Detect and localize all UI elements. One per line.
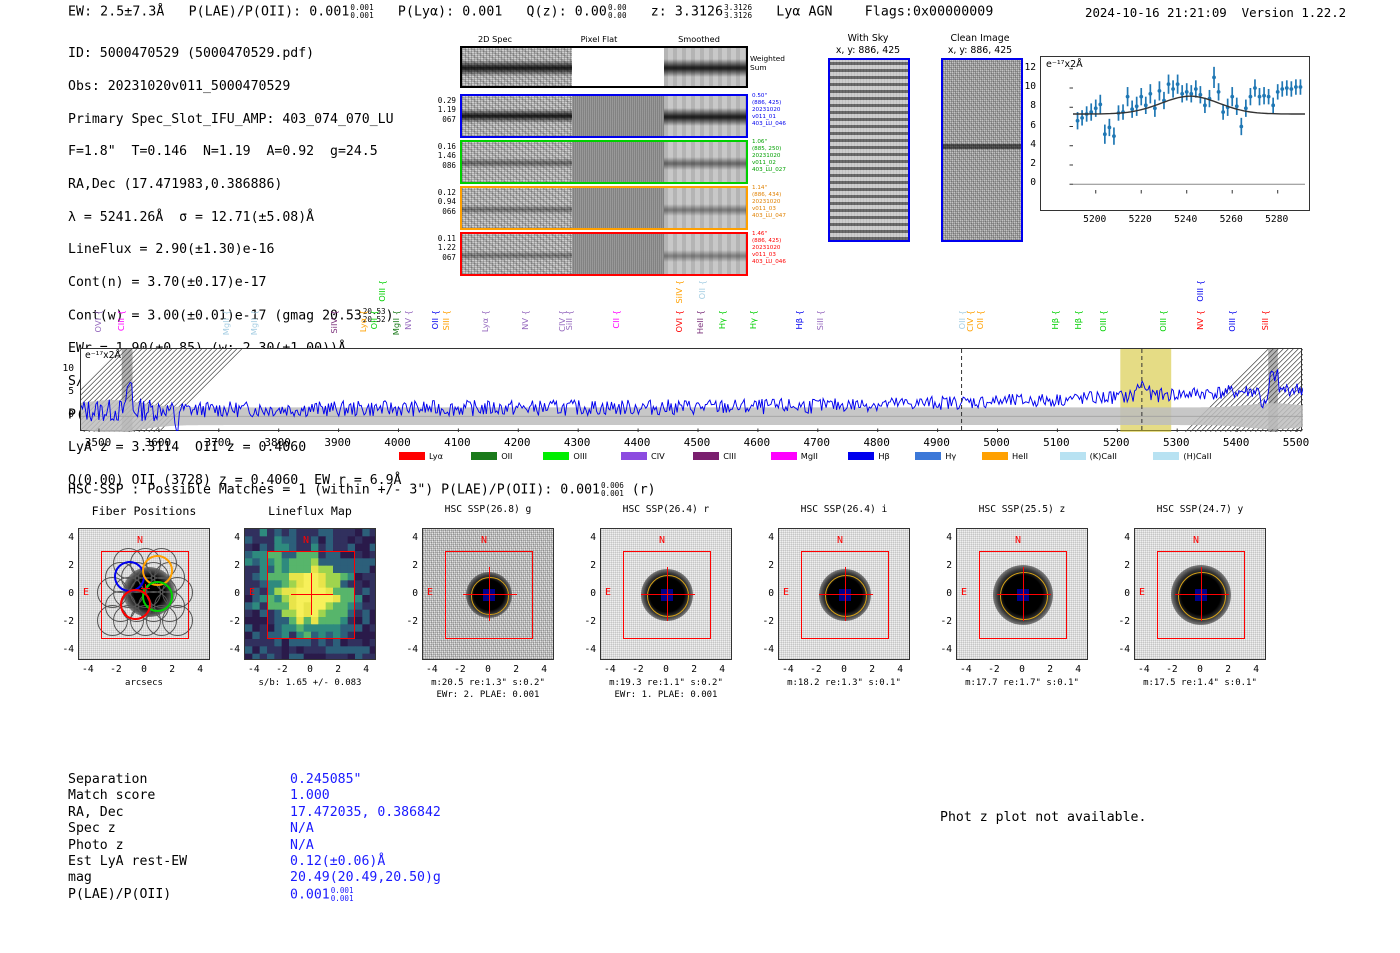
profile-xtick: 5260 [1209,214,1253,225]
panel-xtick: 2 [1214,664,1242,675]
spectrum-xtick: 3900 [312,436,364,449]
table-key-3: Spec z [68,821,116,837]
spectrum-line-label-H: Hβ { [795,310,803,329]
table-value-6: 20.49(20.49,20.50)g [290,870,441,886]
spec2d-row2-left-values: 0.16 1.46 086 [430,142,456,170]
legend-label-KCaII: (K)CaII [1090,451,1117,461]
legend-label-CIII: CIII [723,451,736,461]
panel-xtick: -2 [102,664,130,675]
legend-swatch-OII [471,452,497,460]
spectrum-xtick: 4300 [551,436,603,449]
direction-east-label: E [605,587,611,598]
photz-unavailable-note: Phot z plot not available. [940,810,1146,825]
spectrum-line-label-NV: NV { [1196,310,1204,330]
panel-ytick: -4 [400,644,418,655]
panel-xtick: 0 [652,664,680,675]
spec2d-row4-sep: 1.46" [752,231,786,238]
panel-title-5: HSC SSP(25.5) z [934,504,1110,515]
spectrum-line-label-H: Hγ { [718,310,726,329]
crosshair-v [1023,567,1024,621]
panel-xtick: 0 [830,664,858,675]
spec2d-row2-xy: (885, 250) [752,146,786,153]
spectrum-line-label-SiII: SiII { [1261,310,1269,330]
spectrum-xtick: 4100 [431,436,483,449]
panel-xtick: 0 [130,664,158,675]
panel-ytick: -2 [578,616,596,627]
spectrum-line-label-MgII: MgII { [250,310,258,335]
legend-swatch-H [915,452,941,460]
legend-label-CIV: CIV [651,451,665,461]
panel-ytick: 2 [1112,560,1130,571]
spec2d-row1-val3: 067 [430,115,456,124]
crosshair-v [1201,567,1202,621]
panel-title-6: HSC SSP(24.7) y [1112,504,1288,515]
direction-east-label: E [249,587,255,598]
spectrum-line-label-OII: OII { [698,280,706,299]
panel-ytick: -2 [756,616,774,627]
panel-xtick: -2 [446,664,474,675]
spectrum-line-label-SIII: SIII { [442,310,450,331]
panel-xtick: 4 [708,664,736,675]
spec2d-title-2dspec: 2D Spec [450,34,540,44]
spec2d-row3-amp: 403_LU_047 [752,213,786,220]
legend-label-H: Hγ [945,451,956,461]
panel-ytick: 2 [578,560,596,571]
cutout-with-sky-image[interactable] [828,58,910,242]
spec2d-row2-date: 20231020 [752,153,786,160]
panel-xtick: 4 [186,664,214,675]
panel-xtick: 0 [474,664,502,675]
table-value-3: N/A [290,821,314,837]
red-aperture-box [101,551,189,639]
spectrum-line-label-OII: OII { [370,310,378,329]
spectrum-line-label-OVI: OVI { [94,310,102,332]
panel-xtick: 0 [296,664,324,675]
profile-ytick: 6 [1008,120,1036,131]
table-value-5: 0.12(±0.06)Å [290,854,385,870]
header-flags: Flags:0x00000009 [865,5,994,20]
legend-swatch-CIV [621,452,647,460]
panel-ytick: -4 [222,644,240,655]
panel-xtick: -4 [1130,664,1158,675]
direction-east-label: E [961,587,967,598]
spectrum-line-label-H: Hγ { [749,310,757,329]
panel-image-3[interactable]: NE [600,528,732,660]
spectrum-xtick: 3800 [252,436,304,449]
cutout-with-sky-xy: x, y: 886, 425 [818,45,918,57]
spectrum-line-label-OII: OII { [976,310,984,329]
panel-ytick: -2 [934,616,952,627]
panel-ytick: 4 [756,532,774,543]
spectrum-xtick: 4000 [371,436,423,449]
spec2d-row2-val3: 086 [430,161,456,170]
legend-label-H: Hβ [878,451,889,461]
panel-xtick: -4 [240,664,268,675]
legend-swatch-CIII [693,452,719,460]
spec2d-row2-sep: 1.06" [752,139,786,146]
spec2d-row2-amp: 403_LU_027 [752,167,786,174]
spectrum-xtick: 4800 [851,436,903,449]
spec2d-row4-amp: 403_LU_046 [752,259,786,266]
panel-ytick: 2 [56,560,74,571]
spec2d-row1-left-values: 0.29 1.19 067 [430,96,456,124]
hsc-ssp-frac-lo: 0.001 [601,490,624,498]
legend-label-Ly: Lyα [429,451,443,461]
spectrum-xtick: 4500 [671,436,723,449]
panel-caption-3: m:19.3 re:1.1" s:0.2" [566,678,766,690]
spectrum-line-label-Ly: Lyα { [481,310,489,332]
spectrum-line-label-SiII: SiII { [565,310,573,330]
spec2d-row-fiber-1 [460,94,748,138]
profile-xtick: 5200 [1073,214,1117,225]
table-key-0: Separation [68,772,147,788]
spectrum-line-label-OIII: OIII { [1099,310,1107,332]
panel-title-0: Fiber Positions [56,504,232,518]
header-plae-value: 0.001 [309,5,349,20]
hsc-ssp-header: HSC-SSP : Possible Matches = 1 (within +… [68,482,656,498]
legend-swatch-OIII [543,452,569,460]
info-wavelength-sigma: λ = 5241.26Å σ = 12.71(±5.08)Å [68,210,401,226]
profile-xtick: 5240 [1164,214,1208,225]
panel-xtick: -2 [980,664,1008,675]
panel-ytick: 0 [56,588,74,599]
panel-ytick: 0 [400,588,418,599]
panel-xtick: 2 [158,664,186,675]
panel-xtick: 0 [1186,664,1214,675]
spec2d-weighted-sum-label: Weighted Sum [750,54,785,73]
spec2d-row4-date: 20231020 [752,245,786,252]
panel-ytick: -4 [756,644,774,655]
spec2d-row3-val2: 0.94 [430,197,456,206]
header-plae-lo: 0.001 [350,12,373,20]
panel-ytick: 4 [400,532,418,543]
cutout-clean-xy: x, y: 886, 425 [926,45,1034,57]
panel-xtick: -4 [418,664,446,675]
header-summary-line: EW: 2.5±7.3Å P(LAE)/P(OII): 0.0010.0010.… [68,4,993,20]
spec2d-row1-val1: 0.29 [430,96,456,105]
direction-north-label: N [303,535,309,546]
spectrum-ytick: 10 [46,363,74,374]
direction-north-label: N [481,535,487,546]
panel-caption-4: m:18.2 re:1.3" s:0.1" [744,678,944,690]
info-radec: RA,Dec (17.471983,0.386886) [68,177,401,193]
info-id: ID: 5000470529 (5000470529.pdf) [68,46,401,62]
panel-image-5[interactable]: NE [956,528,1088,660]
cutout-with-sky-label: With Sky [818,33,918,45]
spectrum-line-label-CII: CII { [612,310,620,329]
panel-ytick: -2 [222,616,240,627]
spec2d-row3-left-values: 0.12 0.94 066 [430,188,456,216]
direction-east-label: E [783,587,789,598]
header-version: Version 1.22.2 [1242,5,1346,20]
panel-ytick: -4 [578,644,596,655]
spec2d-row1-obs: v011_01 [752,114,786,121]
line-profile-plot[interactable]: e⁻¹⁷x2Å [1040,56,1310,211]
panel-title-4: HSC SSP(26.4) i [756,504,932,515]
spectrum-line-label-OII: OII { [431,310,439,329]
direction-east-label: E [427,587,433,598]
spectrum-line-label-Ly: Lyα { [359,310,367,332]
spectrum-line-label-NV: NV { [404,310,412,330]
crosshair-v [489,567,490,621]
panel-ytick: 4 [56,532,74,543]
spectrum-line-label-CIV: CIV { [966,310,974,332]
panel-xtick: 4 [1242,664,1270,675]
spectrum-line-label-OIII: OIII { [1228,310,1236,332]
header-qz-lo: 0.00 [608,12,627,20]
table-value-4: N/A [290,838,314,854]
spec2d-row3-right-meta: 1.14" (886, 434) 20231020 v011_03 403_LU… [752,185,786,220]
profile-ytick: 12 [1008,62,1036,73]
legend-swatch-Ly [399,452,425,460]
spectrum-ytick: 0 [46,409,74,420]
table-key-2: RA, Dec [68,805,124,821]
panel-xtick: 2 [858,664,886,675]
spectrum-xtick: 4900 [911,436,963,449]
spec2d-row-fiber-4 [460,232,748,276]
direction-north-label: N [837,535,843,546]
spec2d-row3-date: 20231020 [752,199,786,206]
spec2d-row1-sep: 0.50" [752,93,786,100]
spectrum-line-label-SiII: SiII { [816,310,824,330]
panel-ytick: 0 [222,588,240,599]
panel-ytick: 0 [934,588,952,599]
panel-xtick: 4 [1064,664,1092,675]
spec2d-row3-obs: v011_03 [752,206,786,213]
header-plya: P(Lyα): 0.001 [398,5,503,20]
crosshair-v [667,567,668,621]
direction-north-label: N [1193,535,1199,546]
spec2d-row3-val3: 066 [430,207,456,216]
legend-label-HeII: HeII [1012,451,1028,461]
panel-xtick: 2 [680,664,708,675]
spectrum-line-label-MgII: MgII { [222,310,230,335]
spec2d-row2-val2: 1.46 [430,151,456,160]
panel-ytick: 4 [1112,532,1130,543]
spec2d-row4-obs: v011_03 [752,252,786,259]
spec2d-row3-xy: (886, 434) [752,192,786,199]
spectrum-xtick: 4400 [611,436,663,449]
panel-xtick: 2 [1036,664,1064,675]
cutout-clean-label: Clean Image [926,33,1034,45]
legend-label-MgII: MgII [801,451,818,461]
panel-xtick: -4 [952,664,980,675]
spectrum-line-label-MgII: MgII { [392,310,400,335]
profile-xtick: 5280 [1255,214,1299,225]
spectrum-xtick: 5300 [1150,436,1202,449]
panel-ytick: -2 [400,616,418,627]
panel-ytick: 2 [222,560,240,571]
header-datetime: 2024-10-16 21:21:09 [1085,5,1227,20]
spectrum-line-label-OIII: OIII { [1196,280,1204,302]
spectrum-line-label-OIII: OIII { [1159,310,1167,332]
crosshair-v [845,567,846,621]
legend-swatch-KCaII [1060,452,1086,460]
table-key-5: Est LyA rest-EW [68,854,187,870]
panel-ytick: -2 [1112,616,1130,627]
spec2d-row3-val1: 0.12 [430,188,456,197]
spectrum-xtick: 4600 [731,436,783,449]
spectrum-xtick: 5400 [1210,436,1262,449]
direction-east-label: E [83,587,89,598]
header-z: z: 3.3126 [651,5,723,20]
info-lineflux: LineFlux = 2.90(±1.30)e-16 [68,242,401,258]
spec2d-row-fiber-2 [460,140,748,184]
panel-xtick: -4 [774,664,802,675]
table-key-6: mag [68,870,92,886]
info-cont-n: Cont(n) = 3.70(±0.17)e-17 [68,275,401,291]
spec2d-row3-sep: 1.14" [752,185,786,192]
info-obs: Obs: 20231020v011_5000470529 [68,79,401,95]
panel-caption2-3: EWr: 1. PLAE: 0.001 [566,690,766,702]
crosshair-v [145,584,146,593]
panel-xtick: -4 [596,664,624,675]
hsc-ssp-header-text: HSC-SSP : Possible Matches = 1 (within +… [68,483,600,498]
cutout-with-sky-title: With Sky x, y: 886, 425 [818,33,918,56]
spec2d-row2-obs: v011_02 [752,160,786,167]
spectrum-line-label-OIII: OIII { [378,280,386,302]
panel-xtick: 2 [324,664,352,675]
spectrum-line-label-CIII: CIII { [117,310,125,331]
panel-ytick: 2 [934,560,952,571]
legend-swatch-H [848,452,874,460]
profile-ytick: 10 [1008,81,1036,92]
direction-north-label: N [1015,535,1021,546]
spec2d-row-fiber-3 [460,186,748,230]
panel-xtick: 4 [352,664,380,675]
profile-xtick: 5220 [1118,214,1162,225]
spectrum-line-label-SiIV: SiIV { [330,310,338,334]
full-spectrum-plot[interactable]: e⁻¹⁷x2Å [80,348,1302,431]
header-ew: EW: 2.5±7.3Å [68,5,164,20]
panel-ytick: 4 [934,532,952,543]
table-value-2: 17.472035, 0.386842 [290,805,441,821]
info-primary-spec-slot: Primary Spec_Slot_IFU_AMP: 403_074_070_L… [68,112,401,128]
spectrum-xtick: 5200 [1090,436,1142,449]
panel-xtick: 4 [530,664,558,675]
panel-image-2[interactable]: NE [422,528,554,660]
table-value-text: 0.001 [290,888,330,903]
header-qz: Q(z): 0.00 [527,5,607,20]
panel-caption-5: m:17.7 re:1.7" s:0.1" [922,678,1122,690]
spec2d-row4-val1: 0.11 [430,234,456,243]
legend-swatch-MgII [771,452,797,460]
direction-east-label: E [1139,587,1145,598]
spec2d-title-smoothed: Smoothed [654,34,744,44]
direction-north-label: N [659,535,665,546]
panel-caption-1: s/b: 1.65 +/- 0.083 [210,678,410,690]
spectrum-xtick: 5000 [971,436,1023,449]
panel-title-3: HSC SSP(26.4) r [578,504,754,515]
panel-ytick: -4 [1112,644,1130,655]
panel-image-1[interactable]: NE [244,528,376,660]
panel-ytick: 4 [578,532,596,543]
header-timestamp-version: 2024-10-16 21:21:09 Version 1.22.2 [1085,5,1346,20]
panel-caption-6: m:17.5 re:1.4" s:0.1" [1100,678,1300,690]
cutout-clean-title: Clean Image x, y: 886, 425 [926,33,1034,56]
spectrum-xtick: 4700 [791,436,843,449]
table-frac-lo: 0.001 [331,895,354,903]
spectrum-line-label-SiIV: SiIV { [675,280,683,304]
panel-xtick: -2 [802,664,830,675]
spectrum-unit-label: e⁻¹⁷x2Å [85,350,121,361]
legend-label-HCaII: (H)CaII [1183,451,1211,461]
spec2d-title-pixelflat: Pixel Flat [554,34,644,44]
table-value-7: 0.0010.0010.001 [290,887,354,904]
panel-title-2: HSC SSP(26.8) g [400,504,576,515]
panel-title-1: Lineflux Map [222,504,398,518]
legend-swatch-HeII [982,452,1008,460]
spec2d-row1-amp: 403_LU_046 [752,121,786,128]
source-info-block: ID: 5000470529 (5000470529.pdf) Obs: 202… [68,30,401,505]
spec2d-row4-xy: (886, 425) [752,238,786,245]
spectrum-line-label-H: Hβ { [1051,310,1059,329]
table-key-1: Match score [68,788,155,804]
spectrum-xtick: 4200 [491,436,543,449]
panel-ytick: 2 [756,560,774,571]
direction-north-label: N [137,535,143,546]
info-seeing-params: F=1.8" T=0.146 N=1.19 A=0.92 g=24.5 [68,144,401,160]
spec2d-row1-date: 20231020 [752,107,786,114]
panel-xtick: -2 [1158,664,1186,675]
table-key-4: Photo z [68,838,124,854]
spectrum-line-label-NV: NV { [521,310,529,330]
header-plae-label: P(LAE)/P(OII): [189,5,302,20]
crosshair-v [311,573,312,615]
profile-ytick: 8 [1008,100,1036,111]
spec2d-row1-xy: (886, 425) [752,100,786,107]
panel-ytick: 4 [222,532,240,543]
spec2d-row4-right-meta: 1.46" (886, 425) 20231020 v011_03 403_LU… [752,231,786,266]
panel-xtick: 4 [886,664,914,675]
panel-xtick: 2 [502,664,530,675]
spectrum-xtick: 5100 [1030,436,1082,449]
table-value-1: 1.000 [290,788,330,804]
spectrum-xtick: 3700 [192,436,244,449]
legend-label-OIII: OIII [573,451,587,461]
spectrum-xtick: 3500 [72,436,124,449]
spec2d-row4-val3: 067 [430,253,456,262]
profile-ytick: 2 [1008,158,1036,169]
spec2d-row4-left-values: 0.11 1.22 067 [430,234,456,262]
panel-ytick: 0 [756,588,774,599]
panel-xtick: -2 [624,664,652,675]
spec2d-row2-val1: 0.16 [430,142,456,151]
spectrum-line-label-H: Hβ { [1074,310,1082,329]
hsc-ssp-header-suffix: (r) [624,483,656,498]
table-value-0: 0.245085" [290,772,361,788]
panel-image-0[interactable]: NE [78,528,210,660]
spectrum-ytick: 5 [46,386,74,397]
panel-ytick: -4 [934,644,952,655]
panel-image-6[interactable]: NE [1134,528,1266,660]
panel-ytick: -4 [56,644,74,655]
panel-xtick: -4 [74,664,102,675]
2d-spectra-block: 2D Spec Pixel Flat Smoothed Weighted Sum… [432,34,762,254]
spec2d-row1-right-meta: 0.50" (886, 425) 20231020 v011_01 403_LU… [752,93,786,128]
panel-image-4[interactable]: NE [778,528,910,660]
panel-ytick: 0 [1112,588,1130,599]
spec2d-row1-val2: 1.19 [430,105,456,114]
spectrum-line-label-OVI: OVI { [675,310,683,332]
spectrum-xtick: 5500 [1270,436,1322,449]
panel-ytick: -2 [56,616,74,627]
info-cont-w-text: Cont(w) = 3.00(±0.01)e-17 (gmag 20.53 [68,309,362,324]
spec2d-row-weighted-sum [460,46,748,88]
legend-label-OII: OII [501,451,512,461]
profile-ytick: 4 [1008,139,1036,150]
panel-xtick: 0 [1008,664,1036,675]
